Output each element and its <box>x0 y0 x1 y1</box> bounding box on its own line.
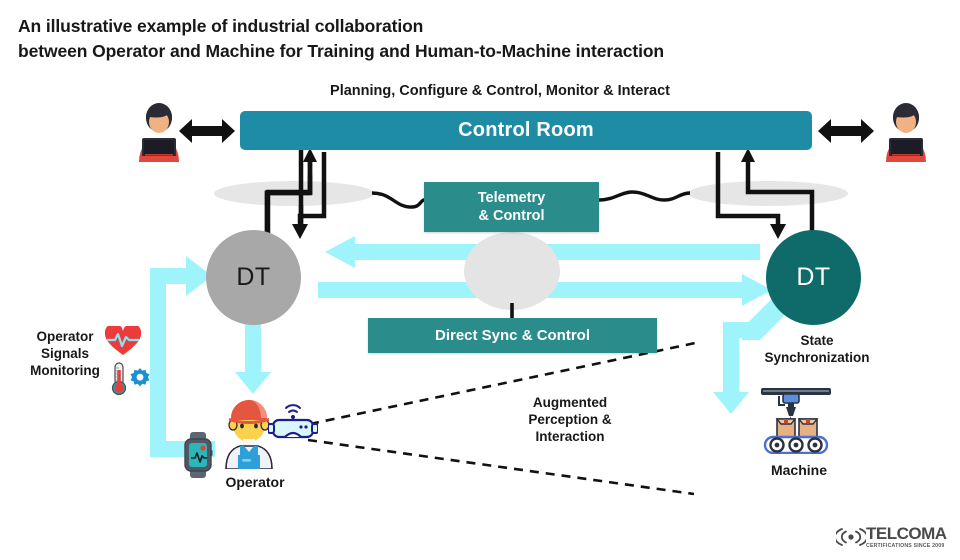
vr-headset-icon <box>268 398 318 444</box>
robotic-arm-conveyor-icon <box>755 388 837 454</box>
operator-caption: Operator <box>200 474 310 491</box>
left-down-arrowhead <box>292 224 308 239</box>
platter-middle <box>464 232 560 310</box>
title-line-2: between Operator and Machine for Trainin… <box>18 39 818 64</box>
thermometer-icon <box>110 362 128 396</box>
cable-left-to-telemetry <box>372 193 424 207</box>
control-room-label: Control Room <box>458 119 594 142</box>
logo-tagline: CERTIFICATIONS SINCE 2009 <box>866 544 947 549</box>
right-up-arrowhead <box>741 148 755 162</box>
logo-name: TELCOMA <box>866 524 947 543</box>
augmented-line3: Interaction <box>496 428 644 445</box>
operator-signals-line1: Operator <box>22 328 108 345</box>
operator-signals-line3: Monitoring <box>22 362 108 379</box>
direct-sync-and-control-box[interactable]: Direct Sync & Control <box>368 318 657 353</box>
operator-signals-line2: Signals <box>22 345 108 362</box>
control-room-caption: Planning, Configure & Control, Monitor &… <box>290 83 710 99</box>
telemetry-and-control-box[interactable]: Telemetry & Control <box>424 182 599 232</box>
telemetry-label-line1: Telemetry <box>478 189 545 207</box>
platter-left <box>214 181 374 206</box>
machine-caption: Machine <box>744 462 854 479</box>
person-with-laptop-icon-right <box>880 100 932 162</box>
page-title: An illustrative example of industrial co… <box>18 14 818 64</box>
dt-left-label: DT <box>236 263 270 292</box>
smartwatch-icon <box>183 432 213 478</box>
digital-twin-machine[interactable]: DT <box>766 230 861 325</box>
arrow-dt-to-operator <box>235 322 271 394</box>
control-room-bar[interactable]: Control Room <box>240 111 812 150</box>
platter-right <box>688 181 848 206</box>
telcoma-logo: TELCOMA CERTIFICATIONS SINCE 2009 <box>836 522 956 552</box>
diagram-canvas: An illustrative example of industrial co… <box>0 0 960 560</box>
signal-waves-icon <box>836 526 866 548</box>
direct-sync-label: Direct Sync & Control <box>435 327 590 344</box>
left-up-arrowhead <box>303 148 317 162</box>
heart-rate-icon <box>105 326 141 356</box>
state-synchronization-label: State Synchronization <box>742 332 892 366</box>
title-line-1: An illustrative example of industrial co… <box>18 14 818 39</box>
telemetry-label-line2: & Control <box>478 207 545 225</box>
right-down-arrowhead <box>770 224 786 239</box>
gear-icon <box>129 368 151 390</box>
double-arrow-icon-left <box>179 115 235 147</box>
state-sync-line2: Synchronization <box>742 349 892 366</box>
augmented-line1: Augmented <box>496 394 644 411</box>
state-sync-line1: State <box>742 332 892 349</box>
operator-signals-monitoring-label: Operator Signals Monitoring <box>22 328 108 379</box>
arrow-operator-signals-to-dt <box>150 256 215 457</box>
double-arrow-icon-right <box>818 115 874 147</box>
person-with-laptop-icon-left <box>133 100 185 162</box>
dt-right-label: DT <box>796 263 830 292</box>
augmented-line2: Perception & <box>496 411 644 428</box>
cable-telemetry-to-right <box>599 192 690 200</box>
augmented-perception-label: Augmented Perception & Interaction <box>496 394 644 445</box>
digital-twin-operator[interactable]: DT <box>206 230 301 325</box>
